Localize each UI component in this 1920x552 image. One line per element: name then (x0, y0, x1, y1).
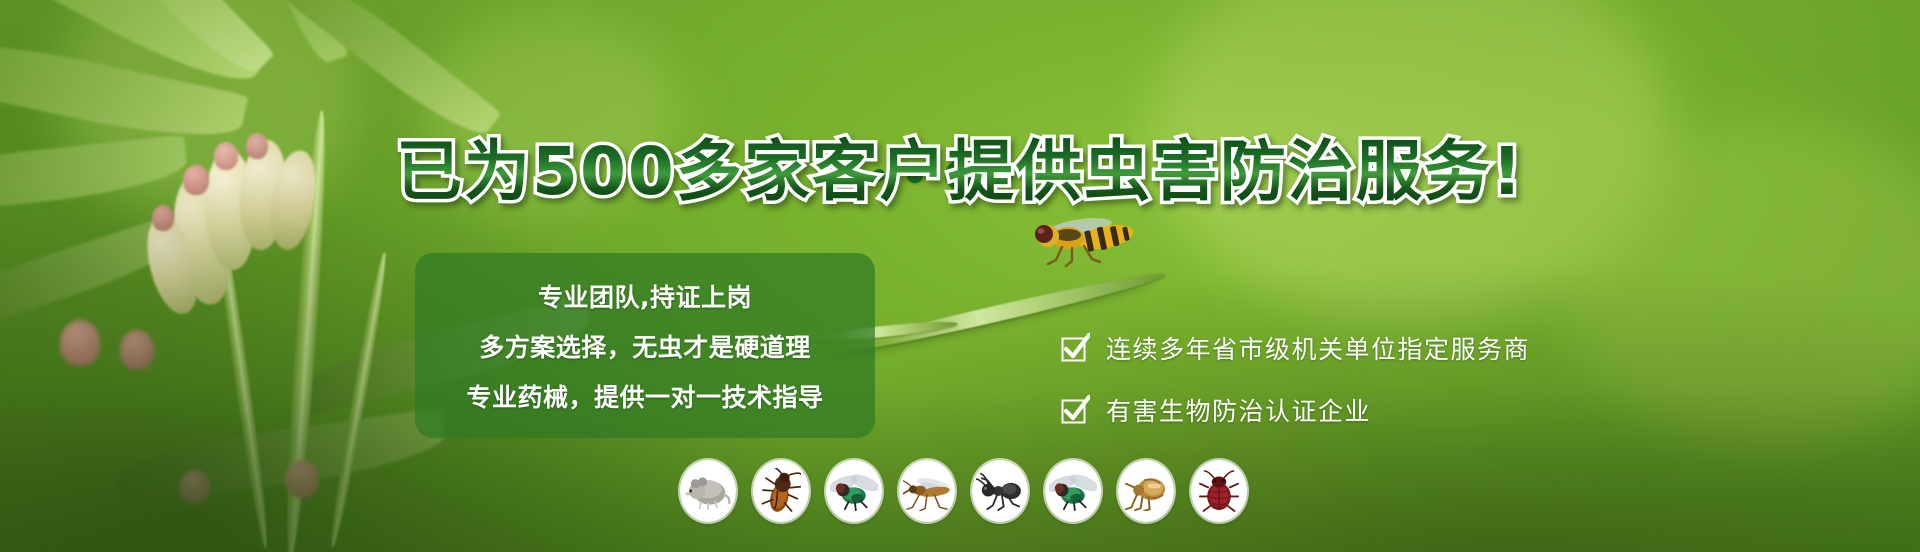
cockroach-icon[interactable] (753, 460, 809, 522)
credentials-checklist: 连续多年省市级机关单位指定服务商 有害生物防治认证企业 (1060, 330, 1530, 428)
checklist-item-label: 有害生物防治认证企业 (1106, 392, 1371, 428)
checklist-item: 连续多年省市级机关单位指定服务商 (1060, 330, 1530, 366)
page-title: 已为500多家客户提供虫害防治服务! 已为500多家客户提供虫害防治服务! (0, 68, 1920, 188)
checklist-item: 有害生物防治认证企业 (1060, 392, 1530, 428)
ant-icon[interactable] (972, 460, 1028, 522)
mouse-icon[interactable] (680, 460, 736, 522)
mosquito-icon[interactable] (899, 460, 955, 522)
bedbug-icon[interactable] (1191, 460, 1247, 522)
pest-type-icon-strip (680, 460, 1247, 522)
page-title-fill: 已为500多家客户提供虫害防治服务! (0, 136, 1920, 209)
selling-point-line-3: 专业药械，提供一对一技术指导 (466, 378, 823, 414)
flea-icon[interactable] (1118, 460, 1174, 522)
fly-icon-2[interactable] (1045, 460, 1101, 522)
selling-point-line-2: 多方案选择，无虫才是硬道理 (479, 328, 811, 364)
selling-point-line-1: 专业团队,持证上岗 (538, 278, 752, 314)
pest-control-hero-banner: 已为500多家客户提供虫害防治服务! 已为500多家客户提供虫害防治服务! 专业… (0, 0, 1920, 552)
checkbox-checked-icon (1060, 333, 1090, 363)
checklist-item-label: 连续多年省市级机关单位指定服务商 (1106, 330, 1530, 366)
checkbox-checked-icon (1060, 395, 1090, 425)
fly-icon[interactable] (826, 460, 882, 522)
selling-points-panel: 专业团队,持证上岗 多方案选择，无虫才是硬道理 专业药械，提供一对一技术指导 (415, 253, 875, 438)
